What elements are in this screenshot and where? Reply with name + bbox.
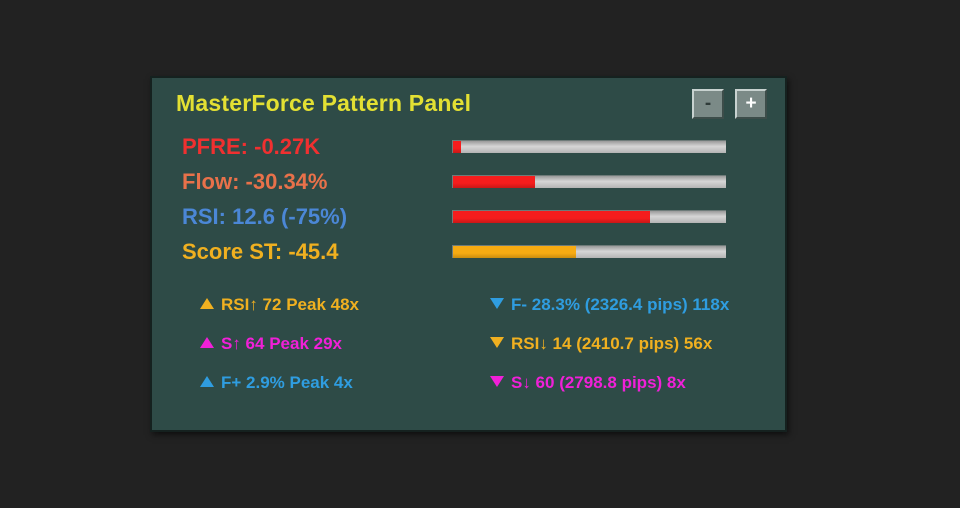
maximize-button[interactable]: + xyxy=(735,89,767,119)
metric-row: RSI: 12.6 (-75%) xyxy=(152,200,785,235)
triangle-down-icon xyxy=(490,298,504,309)
pattern-item-rsi-down[interactable]: RSI↓ 14 (2410.7 pips) 56x xyxy=(490,325,712,362)
metric-label-score-st: Score ST: -45.4 xyxy=(182,235,339,268)
metric-fill-pfre xyxy=(453,141,461,153)
pattern-list: RSI↑ 72 Peak 48x F- 28.3% (2326.4 pips) … xyxy=(152,286,785,403)
metric-label-flow: Flow: -30.34% xyxy=(182,165,327,198)
minimize-button[interactable]: - xyxy=(692,89,724,119)
page-title: MasterForce Pattern Panel xyxy=(176,90,471,117)
metric-label-rsi: RSI: 12.6 (-75%) xyxy=(182,200,347,233)
metric-label-pfre: PFRE: -0.27K xyxy=(182,130,320,163)
metric-bar-score-st xyxy=(452,245,726,258)
pattern-row: F+ 2.9% Peak 4x S↓ 60 (2798.8 pips) 8x xyxy=(152,364,785,403)
metric-bar-pfre xyxy=(452,140,726,153)
pattern-row: RSI↑ 72 Peak 48x F- 28.3% (2326.4 pips) … xyxy=(152,286,785,325)
pattern-label: S↓ 60 (2798.8 pips) 8x xyxy=(511,373,686,392)
metric-row: Flow: -30.34% xyxy=(152,165,785,200)
metric-fill-rsi xyxy=(453,211,650,223)
metric-bar-rsi xyxy=(452,210,726,223)
pattern-label: S↑ 64 Peak 29x xyxy=(221,334,342,353)
masterforce-pattern-panel: MasterForce Pattern Panel - + PFRE: -0.2… xyxy=(150,76,787,432)
metric-fill-score-st xyxy=(453,246,576,258)
triangle-down-icon xyxy=(490,376,504,387)
metric-fill-flow xyxy=(453,176,535,188)
triangle-up-icon xyxy=(200,298,214,309)
pattern-label: F+ 2.9% Peak 4x xyxy=(221,373,353,392)
triangle-down-icon xyxy=(490,337,504,348)
triangle-up-icon xyxy=(200,337,214,348)
metric-row: Score ST: -45.4 xyxy=(152,235,785,270)
pattern-item-flow-down[interactable]: F- 28.3% (2326.4 pips) 118x xyxy=(490,286,729,323)
pattern-label: RSI↑ 72 Peak 48x xyxy=(221,295,359,314)
triangle-up-icon xyxy=(200,376,214,387)
pattern-item-score-down[interactable]: S↓ 60 (2798.8 pips) 8x xyxy=(490,364,686,401)
pattern-row: S↑ 64 Peak 29x RSI↓ 14 (2410.7 pips) 56x xyxy=(152,325,785,364)
panel-titlebar: MasterForce Pattern Panel - + xyxy=(152,78,785,130)
pattern-item-rsi-up[interactable]: RSI↑ 72 Peak 48x xyxy=(200,286,359,323)
pattern-item-flow-up[interactable]: F+ 2.9% Peak 4x xyxy=(200,364,353,401)
metric-row: PFRE: -0.27K xyxy=(152,130,785,165)
pattern-item-score-up[interactable]: S↑ 64 Peak 29x xyxy=(200,325,342,362)
metrics-list: PFRE: -0.27K Flow: -30.34% RSI: 12.6 (-7… xyxy=(152,130,785,270)
pattern-label: F- 28.3% (2326.4 pips) 118x xyxy=(511,295,729,314)
pattern-label: RSI↓ 14 (2410.7 pips) 56x xyxy=(511,334,712,353)
metric-bar-flow xyxy=(452,175,726,188)
